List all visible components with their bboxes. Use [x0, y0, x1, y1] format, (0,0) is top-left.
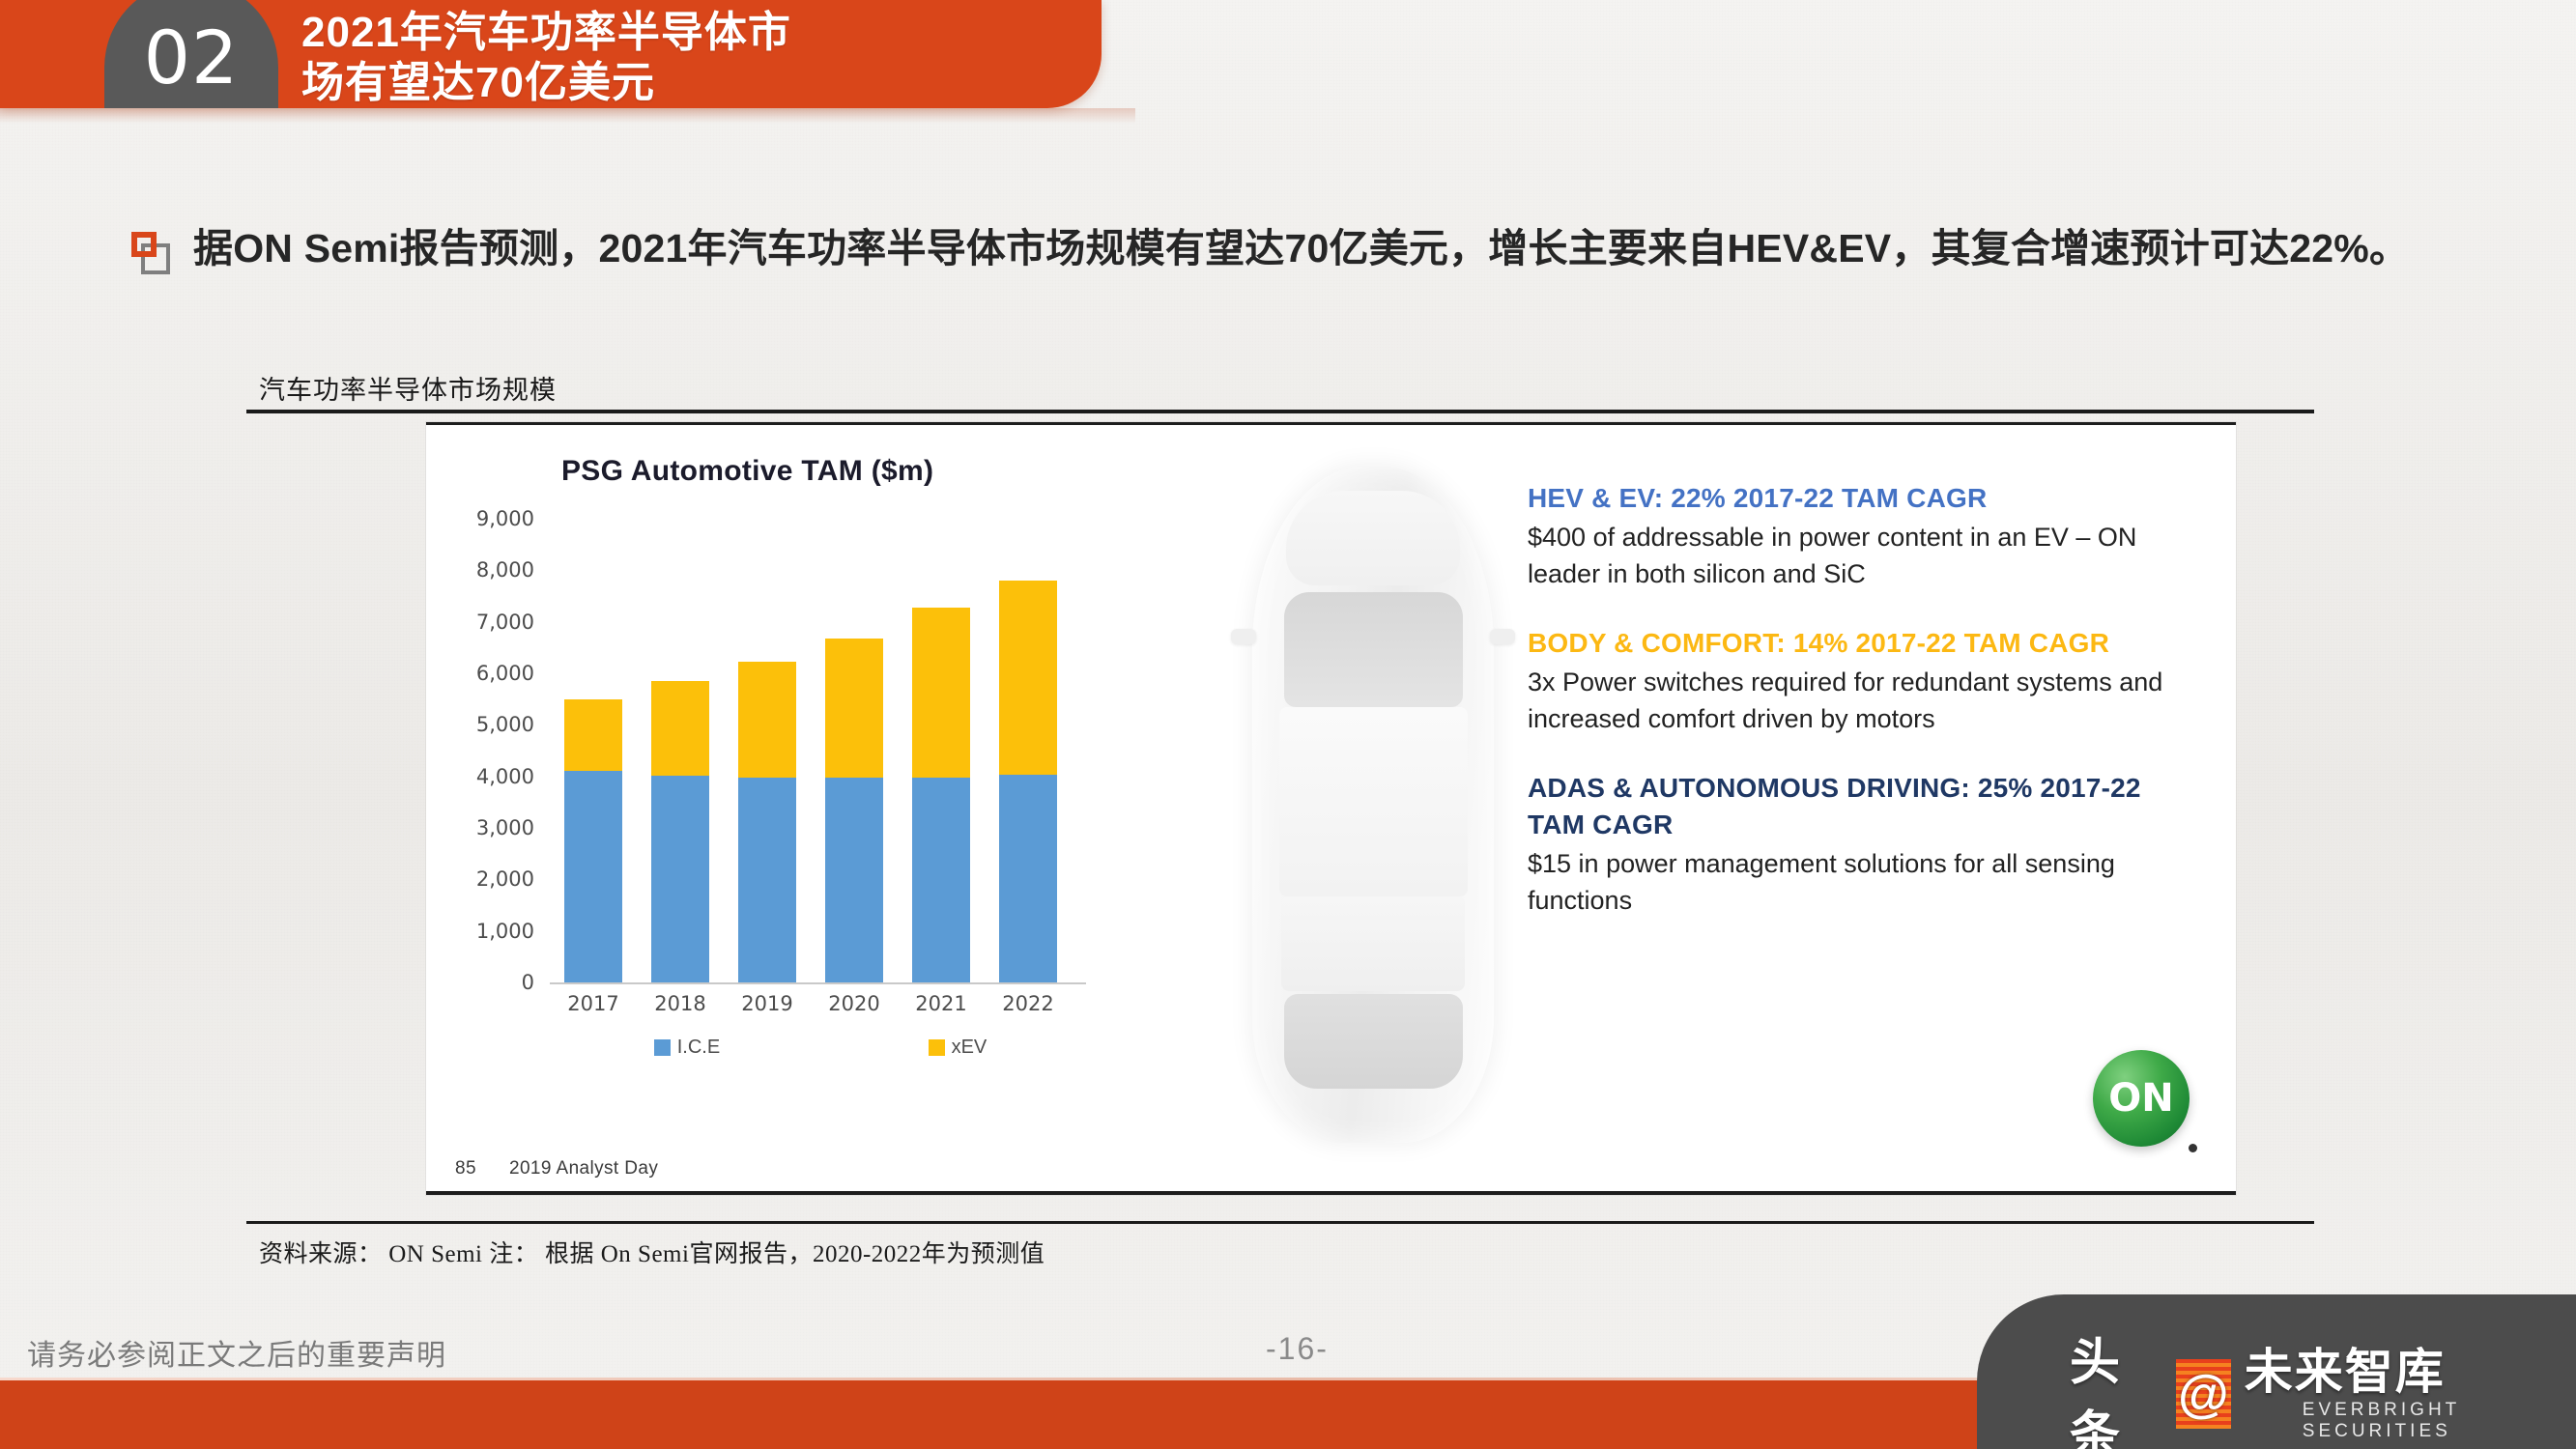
chart-bar-segment-ice [738, 778, 796, 982]
car-roof [1279, 707, 1468, 896]
chart-bar-group [651, 519, 709, 982]
chart-x-tick: 2022 [1002, 992, 1053, 1015]
slide-root: 02 2021年汽车功率半导体市 场有望达70亿美元 据ON Semi报告预测，… [0, 0, 2576, 1449]
chart-bar-group [825, 519, 883, 982]
page-title-line1: 2021年汽车功率半导体市 [301, 8, 1065, 58]
chart-bar-segment-ice [651, 776, 709, 982]
on-logo-registered-dot [2189, 1144, 2197, 1152]
card-bottom-border [426, 1191, 2236, 1195]
chart-y-tick: 2,000 [476, 867, 550, 891]
chart-bar-group [564, 519, 622, 982]
card-footer: 852019 Analyst Day [455, 1158, 658, 1179]
chart-bar-segment-xev [651, 681, 709, 776]
car-mirror-right [1490, 629, 1515, 644]
chart-legend-label: I.C.E [677, 1037, 720, 1059]
footer-disclaimer: 请务必参阅正文之后的重要声明 [27, 1331, 446, 1374]
chart-x-tick: 2018 [654, 992, 705, 1015]
chart-bar-segment-xev [564, 699, 622, 772]
chart-bar-segment-xev [999, 581, 1057, 775]
car-illustration [1189, 432, 1557, 1185]
chart-x-tick: 2017 [567, 992, 618, 1015]
chart-bar-segment-ice [912, 778, 970, 982]
chart-bars [550, 519, 1072, 982]
footer-page-number: -16- [1266, 1331, 1329, 1367]
chart-legend-item: I.C.E [654, 1037, 720, 1059]
on-semiconductor-logo: ON [2093, 1050, 2190, 1147]
chart-legend-swatch [929, 1039, 945, 1056]
exhibit-bottom-rule [246, 1221, 2314, 1224]
chart-y-tick: 5,000 [476, 713, 550, 736]
chart-bar-segment-ice [825, 778, 883, 982]
slide-header: 02 2021年汽车功率半导体市 场有望达70亿美元 [0, 0, 1159, 108]
chart-bar-group [912, 519, 970, 982]
chart-bar-segment-ice [999, 775, 1057, 982]
chart-y-tick: 1,000 [476, 920, 550, 943]
chart-legend-swatch [654, 1039, 671, 1056]
on-slide-text-blocks: HEV & EV: 22% 2017-22 TAM CAGR$400 of ad… [1528, 480, 2204, 952]
chart-title: PSG Automotive TAM ($m) [561, 455, 933, 488]
chart-x-tick: 2021 [915, 992, 966, 1015]
on-block-body: $400 of addressable in power content in … [1528, 519, 2204, 592]
page-title-line2: 场有望达70亿美元 [301, 58, 1065, 108]
chart-x-axis [550, 982, 1086, 984]
card-footer-label: 2019 Analyst Day [509, 1158, 658, 1179]
car-mirror-left [1231, 629, 1256, 644]
on-block-heading: BODY & COMFORT: 14% 2017-22 TAM CAGR [1528, 625, 2204, 662]
chart-bar-segment-xev [825, 639, 883, 779]
chart-y-tick: 3,000 [476, 816, 550, 839]
chart-y-tick: 9,000 [476, 507, 550, 530]
chart-x-tick: 2020 [828, 992, 879, 1015]
chart-legend-item: xEV [929, 1037, 987, 1059]
watermark-toutiao: 头条 [2070, 1321, 2162, 1449]
watermark-at-icon: @ [2176, 1359, 2231, 1429]
section-number: 02 [104, 8, 278, 108]
watermark-brand-en: EVERBRIGHT SECURITIES [2303, 1400, 2576, 1442]
psg-tam-chart: PSG Automotive TAM ($m) 01,0002,0003,000… [445, 445, 1180, 1122]
body-paragraph: 据ON Semi报告预测，2021年汽车功率半导体市场规模有望达70亿美元，增长… [193, 220, 2425, 276]
car-trunk [1281, 896, 1465, 991]
watermark-inner: 头条 @ 未来智库 EVERBRIGHT SECURITIES [2070, 1321, 2576, 1449]
header-shadow [0, 108, 1135, 124]
car-rear-window [1284, 994, 1463, 1089]
on-logo-text: ON [2108, 1076, 2173, 1121]
chart-bar-segment-xev [912, 608, 970, 778]
chart-x-tick: 2019 [741, 992, 792, 1015]
chart-bar-group [999, 519, 1057, 982]
page-title: 2021年汽车功率半导体市 场有望达70亿美元 [301, 8, 1065, 108]
watermark-brand-cn: 未来智库 [2245, 1346, 2576, 1398]
watermark-brand: 未来智库 EVERBRIGHT SECURITIES [2245, 1346, 2576, 1442]
chart-legend: I.C.ExEV [550, 1037, 1091, 1059]
chart-bar-segment-ice [564, 771, 622, 982]
card-top-border [426, 422, 2236, 425]
exhibit-title: 汽车功率半导体市场规模 [259, 369, 557, 407]
chart-bar-segment-xev [738, 662, 796, 778]
car-windshield [1284, 592, 1463, 707]
chart-bar-group [738, 519, 796, 982]
on-block-body: $15 in power management solutions for al… [1528, 845, 2204, 919]
on-block-heading: ADAS & AUTONOMOUS DRIVING: 25% 2017-22 T… [1528, 770, 2204, 843]
on-block-heading: HEV & EV: 22% 2017-22 TAM CAGR [1528, 480, 2204, 517]
on-block-body: 3x Power switches required for redundant… [1528, 664, 2204, 737]
embedded-slide-card: PSG Automotive TAM ($m) 01,0002,0003,000… [426, 422, 2236, 1195]
chart-legend-label: xEV [952, 1037, 987, 1059]
source-note: 资料来源： ON Semi 注： 根据 On Semi官网报告，2020-202… [259, 1235, 1045, 1269]
chart-y-tick: 6,000 [476, 662, 550, 685]
watermark-at-glyph: @ [2178, 1368, 2229, 1420]
chart-y-tick: 4,000 [476, 765, 550, 788]
car-hood [1286, 491, 1460, 585]
chart-y-tick: 8,000 [476, 558, 550, 582]
bullet-square-icon [131, 232, 176, 276]
chart-y-tick: 7,000 [476, 611, 550, 634]
car-body-icon [1252, 467, 1494, 1143]
watermark: 头条 @ 未来智库 EVERBRIGHT SECURITIES [1977, 1294, 2576, 1449]
exhibit-top-rule [246, 410, 2314, 413]
bullet-square-front [131, 232, 157, 257]
chart-plot-area: 01,0002,0003,0004,0005,0006,0007,0008,00… [550, 519, 1072, 982]
card-footer-page: 85 [455, 1158, 509, 1179]
chart-y-tick: 0 [522, 971, 550, 994]
